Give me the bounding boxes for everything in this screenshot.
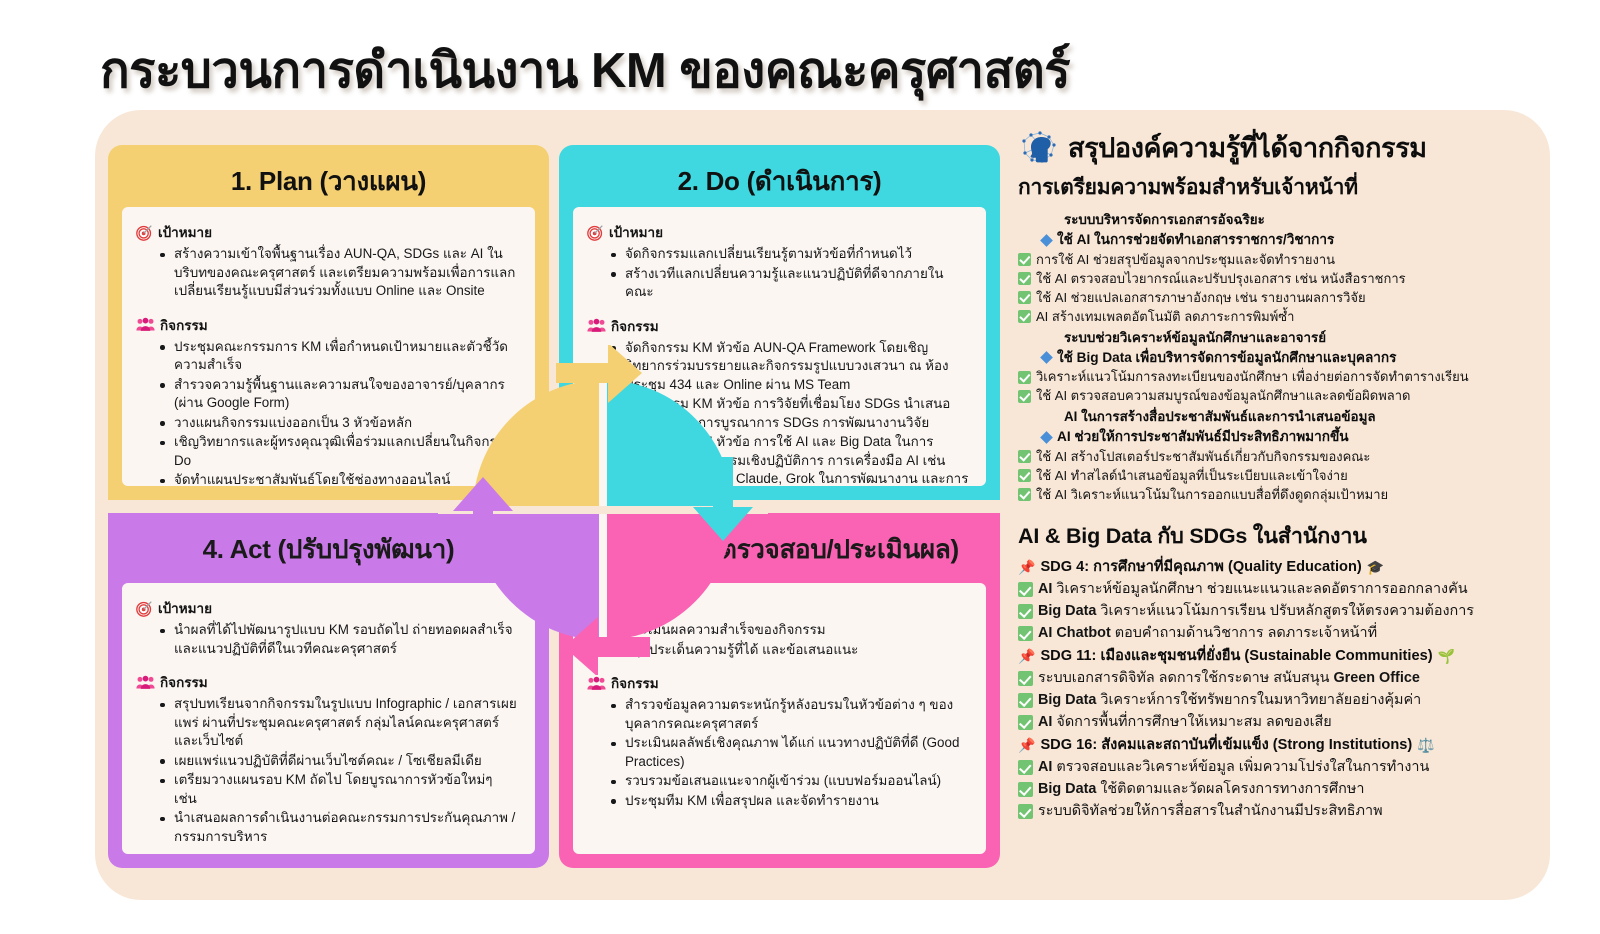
list-item: สำรวจข้อมูลความตระหนักรู้หลังอบรมในหัวข้… <box>611 696 970 733</box>
check-icon <box>1018 626 1033 641</box>
check-item: ใช้ AI สร้างโปสเตอร์ประชาสัมพันธ์เกี่ยวก… <box>1018 448 1538 466</box>
group-bullet: AI ช่วยให้การประชาสัมพันธ์มีประสิทธิภาพม… <box>1042 428 1538 446</box>
sdg-item: AI Chatbot ตอบคำถามด้านวิชาการ ลดภาระเจ้… <box>1018 624 1538 644</box>
list-item: นำผลที่ได้ไปพัฒนารูปแบบ KM รอบถัดไป ถ่าย… <box>160 621 519 658</box>
people-group-icon <box>587 318 606 333</box>
sdg-item-rest: จัดการพื้นที่การศึกษาให้เหมาะสม ลดของเสี… <box>1052 714 1331 730</box>
sdg-item-text: AI ตรวจสอบและวิเคราะห์ข้อมูล เพิ่มความโป… <box>1038 758 1429 778</box>
sdg-item: ระบบเอกสารดิจิทัล ลดการใช้กระดาษ สนับสนุ… <box>1018 669 1538 689</box>
list-item: จัดทำแผนประชาสัมพันธ์โดยใช้ช่องทางออนไลน… <box>160 471 519 486</box>
people-group-icon <box>587 676 606 691</box>
check-icon <box>1018 291 1031 304</box>
check-icon <box>1018 390 1031 403</box>
sdg-section-title: AI & Big Data กับ SDGs ในสำนักงาน <box>1018 519 1538 553</box>
activity-section-heading: กิจกรรม <box>587 672 970 694</box>
check-item-text: ใช้ AI วิเคราะห์แนวโน้มในการออกแบบสื่อที… <box>1036 486 1388 504</box>
list-item: รวบรวมข้อเสนอแนะจากผู้เข้าร่วม (แบบฟอร์ม… <box>611 772 970 791</box>
activity-label: กิจกรรม <box>160 671 208 693</box>
list-item: วางแผนกิจกรรมแบ่งออกเป็น 3 หัวข้อหลัก <box>160 414 519 433</box>
check-icon <box>1018 782 1033 797</box>
target-icon <box>587 600 604 617</box>
list-item: เชิญวิทยากรและผู้ทรงคุณวุฒิเพื่อร่วมแลกเ… <box>160 433 519 470</box>
list-item: จัดกิจกรรม KM หัวข้อ การวิจัยที่เชื่อมโย… <box>611 395 970 432</box>
activity-section-heading: กิจกรรม <box>136 314 519 336</box>
check-item: ใช้ AI ช่วยแปลเอกสารภาษาอังกฤษ เช่น รายง… <box>1018 289 1538 307</box>
list-item: ประชุมคณะกรรมการ KM เพื่อกำหนดเป้าหมายแล… <box>160 338 519 375</box>
do-goal-list: จัดกิจกรรมแลกเปลี่ยนเรียนรู้ตามหัวข้อที่… <box>611 245 970 302</box>
pdca-cycle-grid: 1. Plan (วางแผน) เป้าหมาย สร้างความเข้ <box>108 145 1000 868</box>
sdg-item-text: AI วิเคราะห์ข้อมูลนักศึกษา ช่วยแนะแนวและ… <box>1038 580 1468 600</box>
target-icon <box>136 600 153 617</box>
list-item: นำเสนอผลการดำเนินงานต่อคณะกรรมการประกันค… <box>160 809 519 846</box>
goal-section-heading: เป้าหมาย <box>136 221 519 243</box>
quadrant-plan-body: เป้าหมาย สร้างความเข้าใจพื้นฐานเรื่อง AU… <box>122 207 535 486</box>
goal-section-heading: เป้าหมาย <box>587 597 970 619</box>
check-item-text: ใช้ AI ทำสไลด์นำเสนอข้อมูลที่เป็นระเบียบ… <box>1036 467 1348 485</box>
quadrant-plan-title: 1. Plan (วางแผน) <box>108 161 549 202</box>
people-group-icon <box>136 317 155 332</box>
check-item-text: ใช้ AI ตรวจสอบไวยากรณ์และปรับปรุงเอกสาร … <box>1036 270 1406 288</box>
quadrant-do[interactable]: 2. Do (ดำเนินการ) เป้าหมาย จัดกิจกรรมแ <box>559 145 1000 500</box>
group-bullet-text: ใช้ Big Data เพื่อบริหารจัดการข้อมูลนักศ… <box>1057 349 1396 367</box>
group-bullet: ใช้ AI ในการช่วยจัดทำเอกสารราชการ/วิชากา… <box>1042 231 1538 249</box>
quadrant-act-body: เป้าหมาย นำผลที่ได้ไปพัฒนารูปแบบ KM รอบถ… <box>122 583 535 854</box>
goal-label: เป้าหมาย <box>609 597 663 619</box>
pushpin-icon: 📌 <box>1018 735 1035 755</box>
sdg-item-text: ระบบดิจิทัลช่วยให้การสื่อสารในสำนักงานมี… <box>1038 802 1383 822</box>
sdg-item-rest: ตรวจสอบและวิเคราะห์ข้อมูล เพิ่มความโปร่ง… <box>1052 759 1429 775</box>
quadrant-plan[interactable]: 1. Plan (วางแผน) เป้าหมาย สร้างความเข้ <box>108 145 549 500</box>
check-item-text: ใช้ AI ตรวจสอบความสมบูรณ์ของข้อมูลนักศึก… <box>1036 387 1410 405</box>
pushpin-icon: 📌 <box>1018 646 1035 666</box>
check-goal-list: ประเมินผลความสำเร็จของกิจกรรม สรุปประเด็… <box>611 621 970 659</box>
sdg-heading: 📌 SDG 4: การศึกษาที่มีคุณภาพ (Quality Ed… <box>1018 557 1538 577</box>
check-item: ใช้ AI ทำสไลด์นำเสนอข้อมูลที่เป็นระเบียบ… <box>1018 467 1538 485</box>
sdg-item: AI จัดการพื้นที่การศึกษาให้เหมาะสม ลดของ… <box>1018 713 1538 733</box>
sdg-item-text: Big Data วิเคราะห์การใช้ทรัพยากรในมหาวิท… <box>1038 691 1421 711</box>
check-icon <box>1018 450 1031 463</box>
diamond-bullet-icon <box>1040 351 1053 364</box>
activity-label: กิจกรรม <box>611 315 659 337</box>
check-item-text: ใช้ AI สร้างโปสเตอร์ประชาสัมพันธ์เกี่ยวก… <box>1036 448 1370 466</box>
sdg-item-text: AI Chatbot ตอบคำถามด้านวิชาการ ลดภาระเจ้… <box>1038 624 1377 644</box>
sdg-item-rest: วิเคราะห์การใช้ทรัพยากรในมหาวิทยาลัยอย่า… <box>1096 692 1421 708</box>
check-item: AI สร้างเทมเพลตอัตโนมัติ ลดภาระการพิมพ์ซ… <box>1018 308 1538 326</box>
check-activity-list: สำรวจข้อมูลความตระหนักรู้หลังอบรมในหัวข้… <box>611 696 970 810</box>
goal-section-heading: เป้าหมาย <box>587 221 970 243</box>
summary-header-text: สรุปองค์ความรู้ที่ได้จากกิจกรรม <box>1068 126 1427 169</box>
sdg-item-text: AI จัดการพื้นที่การศึกษาให้เหมาะสม ลดของ… <box>1038 713 1332 733</box>
sdg-item-text: ระบบเอกสารดิจิทัล ลดการใช้กระดาษ สนับสนุ… <box>1038 669 1420 689</box>
check-icon <box>1018 604 1033 619</box>
graduation-cap-icon: 🎓 <box>1367 557 1384 577</box>
check-item-text: AI สร้างเทมเพลตอัตโนมัติ ลดภาระการพิมพ์ซ… <box>1036 308 1294 326</box>
seedling-icon: 🌱 <box>1438 646 1455 666</box>
quadrant-do-body: เป้าหมาย จัดกิจกรรมแลกเปลี่ยนเรียนรู้ตาม… <box>573 207 986 486</box>
sdg-item: Big Data วิเคราะห์แนวโน้มการเรียน ปรับหล… <box>1018 602 1538 622</box>
plan-goal-list: สร้างความเข้าใจพื้นฐานเรื่อง AUN-QA, SDG… <box>160 245 519 301</box>
group-title: ระบบช่วยวิเคราะห์ข้อมูลนักศึกษาและอาจารย… <box>1064 327 1538 348</box>
check-icon <box>1018 371 1031 384</box>
goal-label: เป้าหมาย <box>158 597 212 619</box>
group-bullet: ใช้ Big Data เพื่อบริหารจัดการข้อมูลนักศ… <box>1042 349 1538 367</box>
group-title: ระบบบริหารจัดการเอกสารอัจฉริยะ <box>1064 209 1538 230</box>
sdg-item-text: Big Data วิเคราะห์แนวโน้มการเรียน ปรับหล… <box>1038 602 1474 622</box>
page-title: กระบวนการดำเนินงาน KM ของคณะครุศาสตร์ <box>100 36 1000 106</box>
sdg-item-rest: ระบบเอกสารดิจิทัล ลดการใช้กระดาษ สนับสนุ… <box>1038 670 1333 686</box>
list-item: จัดกิจกรรม KM หัวข้อ การใช้ AI และ Big D… <box>611 433 970 486</box>
check-item: ใช้ AI วิเคราะห์แนวโน้มในการออกแบบสื่อที… <box>1018 486 1538 504</box>
target-icon <box>136 224 153 241</box>
check-item: ใช้ AI ตรวจสอบไวยากรณ์และปรับปรุงเอกสาร … <box>1018 270 1538 288</box>
check-icon <box>1018 693 1033 708</box>
diamond-bullet-icon <box>1040 234 1053 247</box>
sdg-item-rest: ตอบคำถามด้านวิชาการ ลดภาระเจ้าหน้าที่ <box>1111 625 1377 641</box>
sdg-item-lead: Big Data <box>1038 692 1096 708</box>
check-item-text: วิเคราะห์แนวโน้มการลงทะเบียนของนักศึกษา … <box>1036 368 1469 386</box>
balance-scale-icon: ⚖️ <box>1417 735 1434 755</box>
check-icon <box>1018 469 1031 482</box>
act-goal-list: นำผลที่ได้ไปพัฒนารูปแบบ KM รอบถัดไป ถ่าย… <box>160 621 519 658</box>
pushpin-icon: 📌 <box>1018 557 1035 577</box>
list-item: ประชุมทีม KM เพื่อสรุปผล และจัดทำรายงาน <box>611 792 970 811</box>
group-bullet-text: ใช้ AI ในการช่วยจัดทำเอกสารราชการ/วิชากา… <box>1057 231 1334 249</box>
list-item: สรุปประเด็นความรู้ที่ได้ และข้อเสนอแนะ <box>611 641 970 660</box>
group-bullet-text: AI ช่วยให้การประชาสัมพันธ์มีประสิทธิภาพม… <box>1057 428 1349 446</box>
quadrant-check-body: เป้าหมาย ประเมินผลความสำเร็จของกิจกรรม ส… <box>573 583 986 854</box>
sdg-item-lead: Big Data <box>1038 781 1096 797</box>
sdg-heading-text: SDG 4: การศึกษาที่มีคุณภาพ (Quality Educ… <box>1040 557 1361 577</box>
knowledge-summary-panel: สรุปองค์ความรู้ที่ได้จากกิจกรรม การเตรีย… <box>1018 126 1538 816</box>
sdg-item: AI วิเคราะห์ข้อมูลนักศึกษา ช่วยแนะแนวและ… <box>1018 580 1538 600</box>
diamond-bullet-icon <box>1040 431 1053 444</box>
activity-label: กิจกรรม <box>611 672 659 694</box>
check-item: ใช้ AI ตรวจสอบความสมบูรณ์ของข้อมูลนักศึก… <box>1018 387 1538 405</box>
sdg-item: Big Data วิเคราะห์การใช้ทรัพยากรในมหาวิท… <box>1018 691 1538 711</box>
check-icon <box>1018 760 1033 775</box>
list-item: สรุปบทเรียนจากกิจกรรมในรูปแบบ Infographi… <box>160 695 519 751</box>
summary-subheader: การเตรียมความพร้อมสำหรับเจ้าหน้าที่ <box>1018 171 1538 204</box>
sdg-item-rest: ใช้ติดตามและวัดผลโครงการทางการศึกษา <box>1096 781 1364 797</box>
check-icon <box>1018 253 1031 266</box>
list-item: สร้างความเข้าใจพื้นฐานเรื่อง AUN-QA, SDG… <box>160 245 519 301</box>
summary-group: AI ในการสร้างสื่อประชาสัมพันธ์และการนำเส… <box>1018 406 1538 503</box>
check-icon <box>1018 310 1031 323</box>
group-title: AI ในการสร้างสื่อประชาสัมพันธ์และการนำเส… <box>1064 406 1538 427</box>
list-item: สำรวจความรู้พื้นฐานและความสนใจของอาจารย์… <box>160 376 519 413</box>
goal-section-heading: เป้าหมาย <box>136 597 519 619</box>
sdg-heading: 📌 SDG 11: เมืองและชุมชนที่ยั่งยืน (Susta… <box>1018 646 1538 666</box>
summary-group: ระบบช่วยวิเคราะห์ข้อมูลนักศึกษาและอาจารย… <box>1018 327 1538 405</box>
sdg-item-text: Big Data ใช้ติดตามและวัดผลโครงการทางการศ… <box>1038 780 1364 800</box>
infographic-canvas: กระบวนการดำเนินงาน KM ของคณะครุศาสตร์ 1.… <box>0 0 1600 934</box>
activity-section-heading: กิจกรรม <box>136 671 519 693</box>
summary-header: สรุปองค์ความรู้ที่ได้จากกิจกรรม <box>1018 126 1538 169</box>
check-item: วิเคราะห์แนวโน้มการลงทะเบียนของนักศึกษา … <box>1018 368 1538 386</box>
sdg-item: Big Data ใช้ติดตามและวัดผลโครงการทางการศ… <box>1018 780 1538 800</box>
sdg-item-lead: AI <box>1038 581 1052 597</box>
quadrant-check-title: 3. Check (ตรวจสอบ/ประเมินผล) <box>559 529 1000 570</box>
list-item: สร้างเวทีแลกเปลี่ยนความรู้และแนวปฏิบัติท… <box>611 265 970 302</box>
ai-brain-head-icon <box>1018 127 1060 169</box>
sdg-item-lead: AI <box>1038 759 1052 775</box>
check-icon <box>1018 804 1033 819</box>
quadrant-do-title: 2. Do (ดำเนินการ) <box>559 161 1000 202</box>
quadrant-check[interactable]: 3. Check (ตรวจสอบ/ประเมินผล) เป้าหมาย <box>559 513 1000 868</box>
check-icon <box>1018 715 1033 730</box>
list-item: ประเมินผลความสำเร็จของกิจกรรม <box>611 621 970 640</box>
plan-activity-list: ประชุมคณะกรรมการ KM เพื่อกำหนดเป้าหมายแล… <box>160 338 519 487</box>
people-group-icon <box>136 675 155 690</box>
check-icon <box>1018 272 1031 285</box>
list-item: เผยแพร่แนวปฏิบัติที่ดีผ่านเว็บไซต์คณะ / … <box>160 752 519 771</box>
sdg-item-rest: วิเคราะห์แนวโน้มการเรียน ปรับหลักสูตรให้… <box>1096 603 1474 619</box>
activity-label: กิจกรรม <box>160 314 208 336</box>
list-item: ประเมินผลลัพธ์เชิงคุณภาพ ได้แก่ แนวทางปฏ… <box>611 734 970 771</box>
activity-section-heading: กิจกรรม <box>587 315 970 337</box>
check-icon <box>1018 671 1033 686</box>
sdg-item-rest: วิเคราะห์ข้อมูลนักศึกษา ช่วยแนะแนวและลดอ… <box>1052 581 1467 597</box>
sdg-item-tail: Green Office <box>1333 670 1419 686</box>
check-item-text: ใช้ AI ช่วยแปลเอกสารภาษาอังกฤษ เช่น รายง… <box>1036 289 1366 307</box>
summary-group: ระบบบริหารจัดการเอกสารอัจฉริยะ ใช้ AI ใน… <box>1018 209 1538 325</box>
check-icon <box>1018 488 1031 501</box>
list-item: จัดกิจกรรม KM หัวข้อ AUN-QA Framework โด… <box>611 339 970 395</box>
do-activity-list: จัดกิจกรรม KM หัวข้อ AUN-QA Framework โด… <box>611 339 970 487</box>
check-item: การใช้ AI ช่วยสรุปข้อมูลจากประชุมและจัดท… <box>1018 251 1538 269</box>
sdg-item-lead: AI Chatbot <box>1038 625 1111 641</box>
target-icon <box>587 224 604 241</box>
check-icon <box>1018 582 1033 597</box>
sdg-item: ระบบดิจิทัลช่วยให้การสื่อสารในสำนักงานมี… <box>1018 802 1538 822</box>
sdg-heading: 📌 SDG 16: สังคมและสถาบันที่เข้มแข็ง (Str… <box>1018 735 1538 755</box>
list-item: จัดกิจกรรมแลกเปลี่ยนเรียนรู้ตามหัวข้อที่… <box>611 245 970 264</box>
goal-label: เป้าหมาย <box>158 221 212 243</box>
sdg-item-lead: Big Data <box>1038 603 1096 619</box>
act-activity-list: สรุปบทเรียนจากกิจกรรมในรูปแบบ Infographi… <box>160 695 519 846</box>
sdg-item: AI ตรวจสอบและวิเคราะห์ข้อมูล เพิ่มความโป… <box>1018 758 1538 778</box>
sdg-item-lead: AI <box>1038 714 1052 730</box>
sdg-item-rest: ระบบดิจิทัลช่วยให้การสื่อสารในสำนักงานมี… <box>1038 803 1383 819</box>
quadrant-act-title: 4. Act (ปรับปรุงพัฒนา) <box>108 529 549 570</box>
check-item-text: การใช้ AI ช่วยสรุปข้อมูลจากประชุมและจัดท… <box>1036 251 1335 269</box>
quadrant-act[interactable]: 4. Act (ปรับปรุงพัฒนา) เป้าหมาย นำผลที <box>108 513 549 868</box>
goal-label: เป้าหมาย <box>609 221 663 243</box>
list-item: เตรียมวางแผนรอบ KM ถัดไป โดยบูรณาการหัวข… <box>160 771 519 808</box>
sdg-heading-text: SDG 16: สังคมและสถาบันที่เข้มแข็ง (Stron… <box>1040 735 1412 755</box>
sdg-heading-text: SDG 11: เมืองและชุมชนที่ยั่งยืน (Sustain… <box>1040 646 1432 666</box>
